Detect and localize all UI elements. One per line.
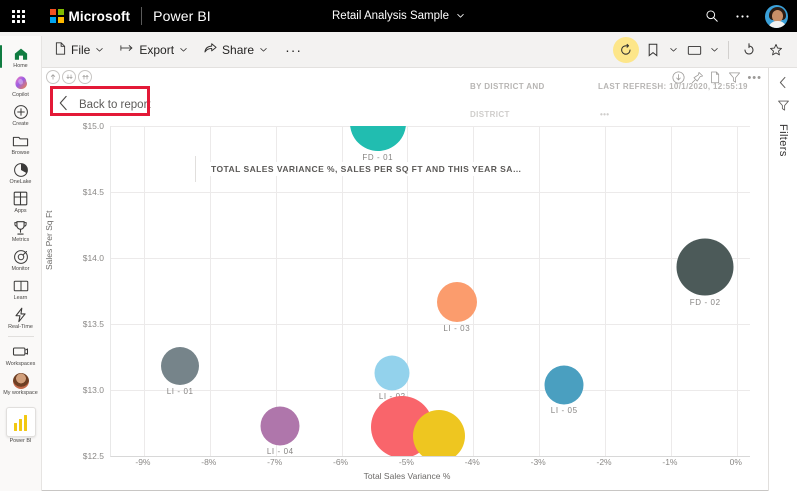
scatter-bubble-label: LI - 01 [167,387,194,396]
gridline-horizontal [111,258,750,259]
export-icon [120,42,134,57]
sidebar-label-power-bi: Power BI [1,438,41,444]
home-icon [11,45,30,62]
sidebar-item-browse[interactable]: Browse [0,129,42,158]
share-menu-label: Share [222,43,254,57]
left-navigation-rail: Home Copilot Creat [0,36,42,491]
top-navigation-bar: Microsoft Power BI Retail Analysis Sampl… [0,0,797,32]
chevron-down-icon [259,43,268,57]
sidebar-item-workspaces[interactable]: Workspaces [0,340,42,369]
share-menu-button[interactable]: Share [197,38,275,61]
x-axis-tick-label: -4% [465,457,480,467]
y-axis-tick-label: $13.0 [60,385,104,395]
chevron-down-icon[interactable] [708,45,721,54]
gridline-horizontal [111,390,750,391]
drill-down-icon[interactable] [62,70,76,84]
monitor-icon [11,248,30,265]
learn-book-icon [11,277,30,294]
sidebar-item-real-time[interactable]: Real-Time [0,303,42,332]
command-bar-left: File Export Share [0,38,310,62]
sidebar-item-home[interactable]: Home [0,42,42,71]
sidebar-label-monitor: Monitor [1,266,41,272]
gridline-vertical [605,126,606,456]
power-bi-tile-icon [6,407,36,437]
sidebar-label-workspaces: Workspaces [1,361,41,367]
y-axis-tick-label: $13.5 [60,319,104,329]
sidebar-item-my-workspace[interactable]: My workspace [0,369,42,398]
share-icon [204,42,217,57]
x-axis-tick-label: -6% [333,457,348,467]
page-bottom-strip [0,491,797,499]
file-menu-label: File [71,43,90,57]
sidebar-item-onelake[interactable]: OneLake [0,158,42,187]
header-divider [195,156,196,182]
back-to-report-button[interactable]: Back to report [48,90,171,121]
gridline-horizontal [111,324,750,325]
gridline-vertical [737,126,738,456]
expand-hierarchy-icon[interactable] [78,70,92,84]
bookmark-icon[interactable] [640,37,666,63]
y-axis-ticks: $15.0$14.5$14.0$13.5$13.0$12.5 [56,120,104,491]
sidebar-label-my-workspace: My workspace [1,390,41,396]
sidebar-label-browse: Browse [1,150,41,156]
scatter-bubble[interactable] [545,365,584,404]
command-bar-right [613,37,797,63]
power-bi-report-page: Microsoft Power BI Retail Analysis Sampl… [0,0,797,499]
topbar-divider [141,7,142,25]
report-canvas: ••• BY DISTRICT AND DISTRICT LAST REFRES… [42,68,768,491]
gridline-vertical [144,126,145,456]
scatter-bubble[interactable] [161,347,199,385]
nav-items: Home Copilot Creat [0,36,41,446]
user-avatar-icon [11,372,30,389]
onelake-icon [11,161,30,178]
ghost-visual-subtitle-line1: BY DISTRICT AND [470,82,545,91]
y-axis-tick-label: $14.0 [60,253,104,263]
x-axis-tick-label: 0% [730,457,742,467]
sidebar-item-monitor[interactable]: Monitor [0,245,42,274]
ghost-more-dots: ••• [600,110,609,119]
filter-funnel-icon[interactable] [777,99,790,112]
x-axis-tick-label: -1% [662,457,677,467]
avatar[interactable] [764,4,789,29]
power-bi-wordmark[interactable]: Power BI [153,8,211,24]
sidebar-pinned-section: Power BI [0,404,42,446]
microsoft-logo[interactable]: Microsoft [50,9,130,24]
filters-panel-title[interactable]: Filters [777,124,789,157]
export-menu-label: Export [139,43,174,57]
scatter-bubble[interactable] [677,239,734,296]
y-axis-label: Sales Per Sq Ft [44,210,54,270]
drill-up-icon[interactable] [46,70,60,84]
app-launcher-icon[interactable] [0,0,36,32]
favorite-star-icon[interactable] [763,37,789,63]
real-time-bolt-icon [11,306,30,323]
filters-panel-collapsed: Filters [768,68,797,491]
x-axis-tick-label: -8% [201,457,216,467]
gridline-vertical [671,126,672,456]
gridline-horizontal [111,126,750,127]
refresh-icon[interactable] [736,37,762,63]
y-axis-tick-label: $15.0 [60,121,104,131]
search-icon[interactable] [698,2,726,30]
x-axis-tick-label: -7% [267,457,282,467]
x-axis-ticks: -9%-8%-7%-6%-5%-4%-3%-2%-1%0% [42,457,768,471]
sidebar-item-apps[interactable]: Apps [0,187,42,216]
x-axis-tick-label: -2% [597,457,612,467]
chevron-left-icon[interactable] [778,76,788,89]
scatter-bubble[interactable] [261,406,300,445]
scatter-bubble-label: LI - 05 [551,406,578,415]
reset-icon[interactable] [613,37,639,63]
scatter-bubble[interactable] [437,282,477,322]
sidebar-item-copilot[interactable]: Copilot [0,71,42,100]
workspaces-icon [11,343,30,360]
last-refresh-label: LAST REFRESH: 10/1/2020, 12:55:19 [598,82,748,91]
scatter-bubble[interactable] [350,126,406,151]
sidebar-label-copilot: Copilot [1,92,41,98]
scatter-bubble-label: FD - 02 [690,298,721,307]
sidebar-item-metrics[interactable]: Metrics [0,216,42,245]
sidebar-label-home: Home [1,63,41,69]
metrics-trophy-icon [11,219,30,236]
back-to-report-bar: Back to report [48,88,171,122]
x-axis-label: Total Sales Variance % [364,471,451,481]
report-command-bar: File Export Share [0,32,797,68]
drill-controls [46,70,92,84]
chevron-down-icon[interactable] [456,7,465,25]
microsoft-squares-icon [50,9,64,23]
chevron-left-icon [58,95,69,116]
y-axis-tick-label: $14.5 [60,187,104,197]
more-options-icon[interactable] [728,2,756,30]
report-name-label[interactable]: Retail Analysis Sample [332,10,449,22]
chevron-down-icon[interactable] [667,45,680,54]
microsoft-wordmark: Microsoft [69,9,131,24]
ghost-visual-subtitle-line2: DISTRICT [470,110,510,119]
scatter-bubble[interactable] [375,355,410,390]
apps-grid-icon [11,190,30,207]
copilot-icon [11,74,30,91]
x-axis-tick-label: -3% [531,457,546,467]
sidebar-item-power-bi[interactable]: Power BI [0,404,42,446]
file-menu-button[interactable]: File [48,38,111,62]
gridline-horizontal [111,192,750,193]
x-axis-tick-label: -9% [135,457,150,467]
x-axis-tick-label: -5% [399,457,414,467]
scatter-bubble-label: FD - 01 [362,153,393,162]
gridline-vertical [539,126,540,456]
chevron-down-icon [95,43,104,57]
sidebar-label-apps: Apps [1,208,41,214]
sidebar-label-learn: Learn [1,295,41,301]
command-bar-divider [728,41,729,59]
export-menu-button[interactable]: Export [113,38,195,61]
sidebar-label-onelake: OneLake [1,179,41,185]
browse-folder-icon [11,132,30,149]
more-options-icon[interactable]: ••• [747,72,762,84]
topbar-actions [698,0,797,32]
sidebar-item-learn[interactable]: Learn [0,274,42,303]
sidebar-item-create[interactable]: Create [0,100,42,129]
view-icon[interactable] [681,37,707,63]
command-overflow-button[interactable]: ··· [277,40,310,60]
file-icon [55,42,66,58]
scatter-bubble-label: LI - 04 [267,447,294,456]
sidebar-label-create: Create [1,121,41,127]
sidebar-label-real-time: Real-Time [1,324,41,330]
visual-title: TOTAL SALES VARIANCE %, SALES PER SQ FT … [208,162,525,176]
sidebar-divider [8,336,34,337]
sidebar-label-metrics: Metrics [1,237,41,243]
scatter-bubble[interactable] [413,410,465,457]
back-to-report-label: Back to report [79,99,151,111]
create-plus-icon [11,103,30,120]
chevron-down-icon [179,43,188,57]
